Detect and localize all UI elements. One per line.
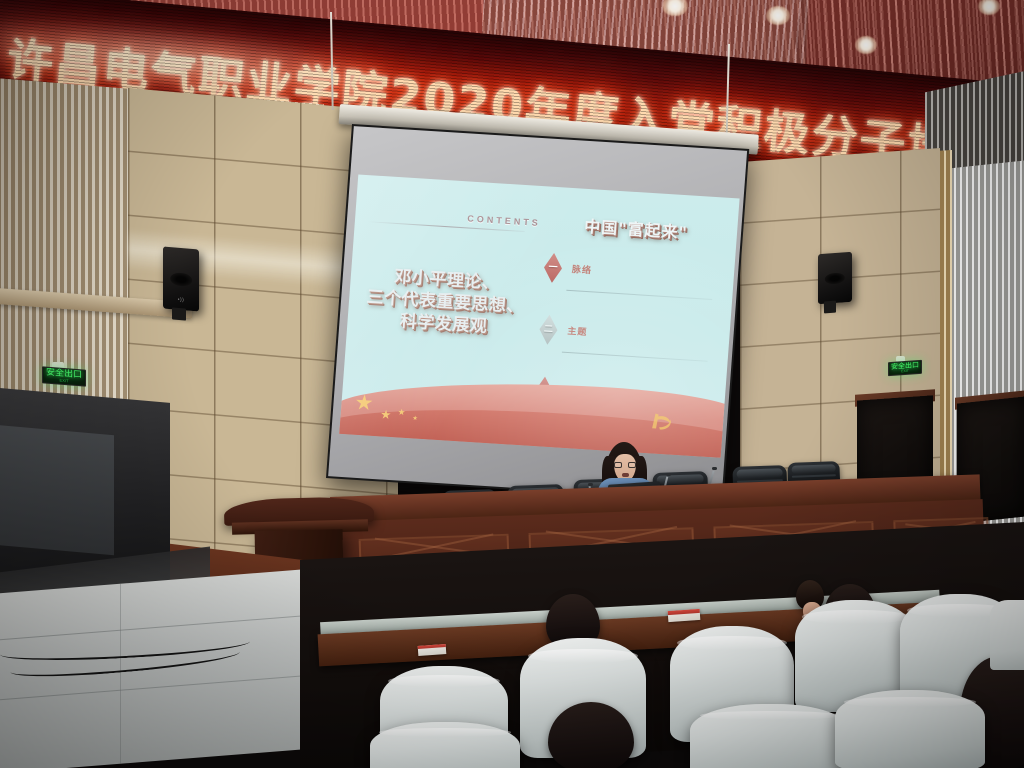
speaker-bracket-left bbox=[172, 307, 186, 320]
presenter-mouth bbox=[622, 473, 629, 477]
speaker-driver-icon bbox=[825, 272, 845, 284]
glasses-icon bbox=[614, 462, 636, 468]
screen-surface: CONTENTS 中国"富起来" 邓小平理论、 三个代表重要思想、 科学发展观 … bbox=[328, 126, 747, 501]
microphone-head-icon bbox=[588, 483, 593, 486]
microphone-head-icon bbox=[666, 473, 671, 476]
speaker-bracket-right bbox=[824, 301, 836, 314]
toc-number: 二 bbox=[544, 325, 554, 335]
auditorium-photo: 许昌电气职业学院2020年度入党积极分子培训班 •)) 安全出口 EXIT 安全… bbox=[0, 0, 1024, 768]
chair-highlight bbox=[792, 464, 836, 474]
contents-label: CONTENTS bbox=[467, 213, 541, 228]
exit-sign-sublabel: EXIT bbox=[901, 369, 909, 373]
exit-sign-left: 安全出口 EXIT bbox=[42, 366, 86, 386]
audience-seat[interactable] bbox=[370, 722, 520, 768]
stage-left-wall bbox=[0, 425, 114, 555]
exit-sign-right: 安全出口 EXIT bbox=[888, 360, 922, 376]
speaker-driver-icon bbox=[170, 272, 192, 288]
presentation-slide: CONTENTS 中国"富起来" 邓小平理论、 三个代表重要思想、 科学发展观 … bbox=[339, 174, 739, 457]
toc-number: 一 bbox=[548, 263, 558, 273]
speaker-logo: •)) bbox=[178, 297, 185, 304]
wall-speaker-right bbox=[818, 252, 852, 304]
toc-rule bbox=[562, 352, 708, 362]
downlight-icon bbox=[766, 6, 790, 25]
audience-seat[interactable] bbox=[835, 690, 985, 768]
toc-label: 脉络 bbox=[572, 262, 593, 276]
toc-label: 主题 bbox=[567, 324, 588, 338]
notebook bbox=[418, 644, 447, 656]
party-emblem-icon bbox=[648, 409, 676, 433]
notebook bbox=[668, 609, 701, 622]
slide-main-title: 邓小平理论、 三个代表重要思想、 科学发展观 bbox=[357, 265, 533, 341]
projection-screen: CONTENTS 中国"富起来" 邓小平理论、 三个代表重要思想、 科学发展观 … bbox=[326, 124, 749, 503]
toc-rule bbox=[566, 290, 712, 300]
chair-highlight bbox=[737, 468, 783, 478]
slide-section-title: 中国"富起来" bbox=[540, 210, 731, 246]
downlight-icon bbox=[855, 36, 877, 54]
audience-seat[interactable] bbox=[690, 704, 850, 768]
microphone-head-icon bbox=[712, 467, 717, 470]
attendee-shirt bbox=[990, 600, 1024, 670]
toc-diamond-icon: 二 bbox=[538, 314, 558, 345]
wall-speaker-left: •)) bbox=[163, 246, 199, 311]
floor-tile-line bbox=[120, 584, 121, 764]
toc-diamond-icon: 一 bbox=[543, 252, 563, 283]
exit-sign-sublabel: EXIT bbox=[60, 379, 69, 384]
